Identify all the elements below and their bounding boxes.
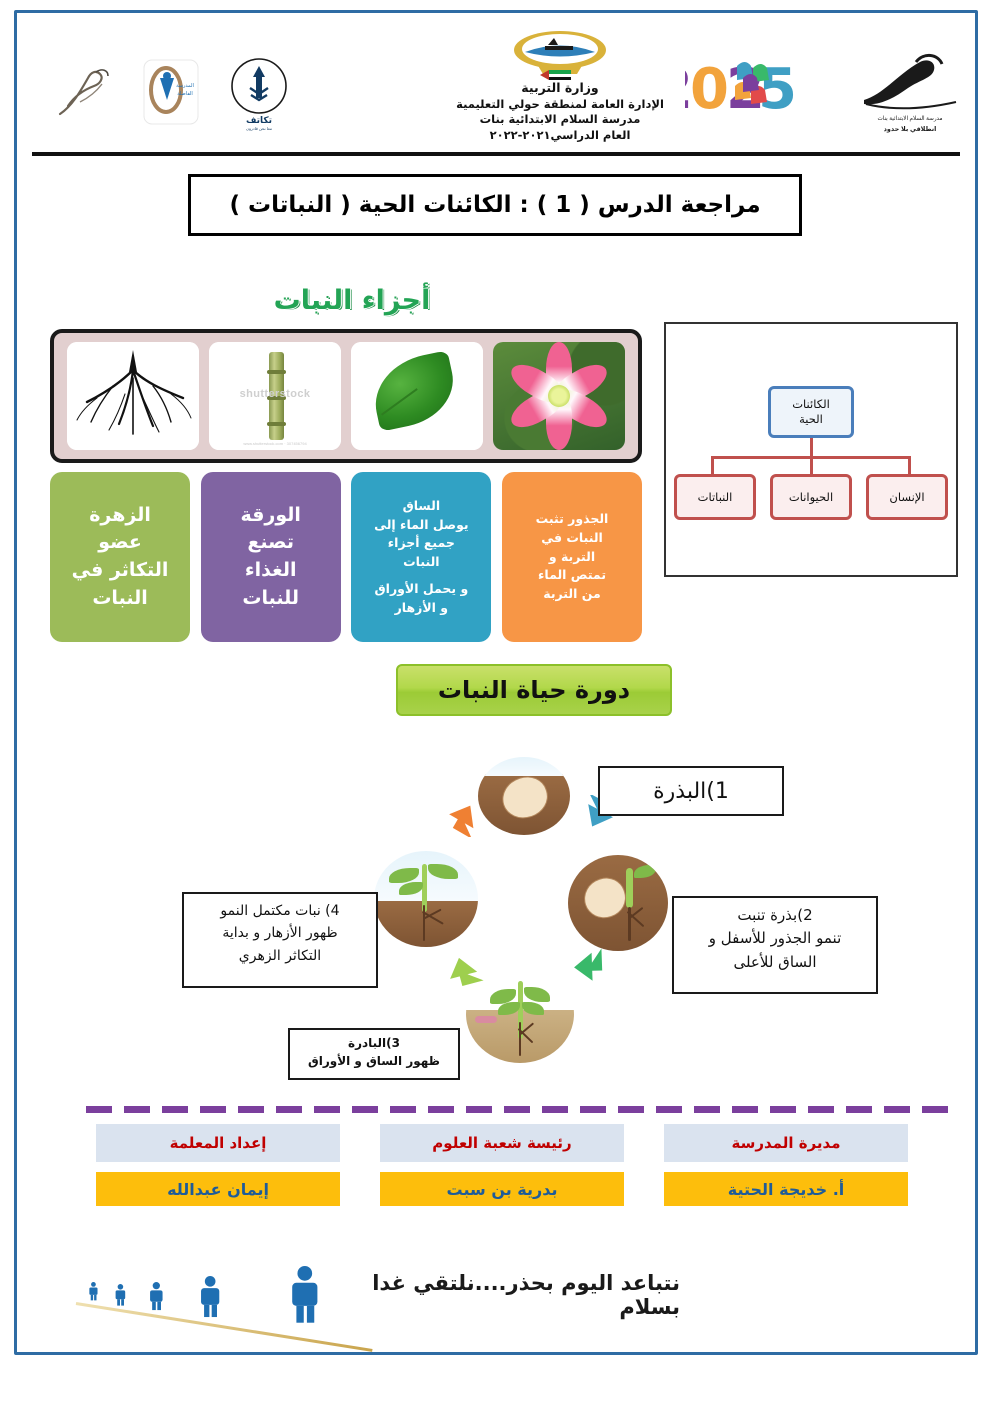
plant-parts-heading: أجزاء النبات xyxy=(232,280,472,320)
mature-plant-stage-image xyxy=(374,851,478,947)
ministry-line-3: مدرسة السلام الابتدائية بنات xyxy=(445,112,675,128)
life-cycle-heading: دورة حياة النبات xyxy=(396,664,672,716)
lesson-title-text: مراجعة الدرس ( 1 ) : الكائنات الحية ( ال… xyxy=(229,192,760,218)
leaf-photo xyxy=(351,342,483,450)
roots-photo xyxy=(67,342,199,450)
calligraphy-logo xyxy=(50,62,120,124)
stem-part-box: الساق يوصل الماء إلى جميع أجزاء النبات و… xyxy=(351,472,491,642)
cycle-arrow-plant-to-seed xyxy=(446,797,486,837)
svg-text:تكاتف: تكاتف xyxy=(246,115,272,125)
signature-teacher-name: إيمان عبدالله xyxy=(96,1172,340,1206)
chart-node-humans: الإنسان xyxy=(866,474,948,520)
bird-logo-line-1: مدرسة السلام الابتدائية بنات xyxy=(878,116,943,122)
life-cycle-step-1-box: 1)البذرة xyxy=(598,766,784,816)
chart-node-plants: النباتات xyxy=(674,474,756,520)
life-cycle-step-3-box: 3)البادرة ظهور الساق و الأوراق xyxy=(288,1028,460,1080)
flower-photo xyxy=(493,342,625,450)
year-2025-logo: 2 0 2 5 xyxy=(685,50,825,122)
plant-parts-boxes: الجذور تثبت النبات في التربة و تمتص الما… xyxy=(50,472,642,642)
stem-photo-watermark-small: www.shutterstock.com · 307456794 xyxy=(215,441,335,446)
flower-part-box: الجذور تثبت النبات في التربة و تمتص الما… xyxy=(502,472,642,642)
flower-part-desc: عضو التكاثر في النبات xyxy=(72,529,169,612)
life-cycle-step-1-text: 1)البذرة xyxy=(653,779,729,804)
signature-teacher: إعداد المعلمة إيمان عبدالله xyxy=(96,1124,340,1214)
cycle-arrow-germ-to-seedling xyxy=(566,945,606,985)
ministry-line-4: العام الدراسي٢٠٢١-٢٠٢٢ xyxy=(445,128,675,144)
chart-connector-horizontal xyxy=(711,456,911,459)
ministry-line-2: الإدارة العامة لمنطقة حولي التعليمية xyxy=(445,97,675,113)
signature-principal: مديرة المدرسة أ. خديجة الحتية xyxy=(664,1124,908,1214)
dashed-divider xyxy=(86,1106,956,1113)
plant-parts-heading-text: أجزاء النبات xyxy=(274,285,431,316)
svg-text:الفاضلة: الفاضلة xyxy=(177,91,193,97)
svg-text:0: 0 xyxy=(690,57,729,122)
stem-part-desc: يوصل الماء إلى جميع أجزاء النبات xyxy=(374,516,469,572)
leaf-part-desc: تصنع الغذاء للنبات xyxy=(242,529,299,612)
signature-row: مديرة المدرسة أ. خديجة الحتية رئيسة شعبة… xyxy=(96,1124,908,1214)
living-organisms-chart: الكائنات الحية النباتات الحيوانات الإنسا… xyxy=(664,322,958,577)
signature-principal-role: مديرة المدرسة xyxy=(664,1124,908,1162)
life-cycle-step-2-box: 2)بذرة تنبت تنمو الجذور للأسفل و الساق ل… xyxy=(672,896,878,994)
roots-part-box: الزهرة عضو التكاثر في النبات xyxy=(50,472,190,642)
chart-node-living-things: الكائنات الحية xyxy=(768,386,854,438)
takatuf-logo: تكاتف معا نحن قادرون xyxy=(220,54,298,134)
ministry-text: وزارة التربية الإدارة العامة لمنطقة حولي… xyxy=(445,80,675,143)
excellent-school-badge: المدرسة الفاضلة xyxy=(140,56,202,128)
school-bird-logo: مدرسة السلام الابتدائية بنات انطلاقي بلا… xyxy=(850,48,970,138)
leaf-part-box: الورقة تصنع الغذاء للنبات xyxy=(201,472,341,642)
life-cycle-step-4-box: 4) نبات مكتمل النمو ظهور الأزهار و بداية… xyxy=(182,892,378,988)
germination-stage-image xyxy=(568,855,668,951)
plant-parts-photo-strip: shutterstock www.shutterstock.com · 3074… xyxy=(50,329,642,463)
flower-part-title: الزهرة xyxy=(89,502,151,530)
ministry-line-1: وزارة التربية xyxy=(445,80,675,97)
stem-photo-watermark: shutterstock xyxy=(209,388,341,400)
stem-part-desc2: و يحمل الأوراق و الأزهار xyxy=(374,580,468,618)
header-rule xyxy=(32,152,960,156)
footer-slogan-text: نتباعد اليوم بحذر....نلتقي غدا بسلام xyxy=(350,1271,680,1319)
document-header: المدرسة الفاضلة تكاتف معا نحن قادرون xyxy=(30,26,962,156)
cycle-arrow-seedling-to-plant xyxy=(444,949,484,989)
signature-principal-name: أ. خديجة الحتية xyxy=(664,1172,908,1206)
signature-science-head-role: رئيسة شعبة العلوم xyxy=(380,1124,624,1162)
signature-teacher-role: إعداد المعلمة xyxy=(96,1124,340,1162)
ministry-emblem-and-text: وزارة التربية الإدارة العامة لمنطقة حولي… xyxy=(445,28,675,156)
signature-science-head: رئيسة شعبة العلوم بدرية بن سبت xyxy=(380,1124,624,1214)
signature-science-head-name: بدرية بن سبت xyxy=(380,1172,624,1206)
svg-text:المدرسة: المدرسة xyxy=(176,83,194,89)
svg-text:معا نحن قادرون: معا نحن قادرون xyxy=(246,126,272,131)
chart-connector-right xyxy=(908,456,911,474)
roots-part-desc: الجذور تثبت النبات في التربة و تمتص الما… xyxy=(536,510,609,604)
chart-connector-left xyxy=(711,456,714,474)
chart-node-animals: الحيوانات xyxy=(770,474,852,520)
stem-part-title: الساق xyxy=(403,497,441,516)
life-cycle-heading-text: دورة حياة النبات xyxy=(438,676,630,704)
stem-photo: shutterstock www.shutterstock.com · 3074… xyxy=(209,342,341,450)
leaf-part-title: الورقة xyxy=(240,502,300,530)
lesson-title-box: مراجعة الدرس ( 1 ) : الكائنات الحية ( ال… xyxy=(188,174,802,236)
seed-stage-image xyxy=(478,757,570,835)
footer-slogan: نتباعد اليوم بحذر....نلتقي غدا بسلام xyxy=(350,1275,680,1315)
bird-logo-line-2: انطلاقي بلا حدود xyxy=(884,126,937,133)
